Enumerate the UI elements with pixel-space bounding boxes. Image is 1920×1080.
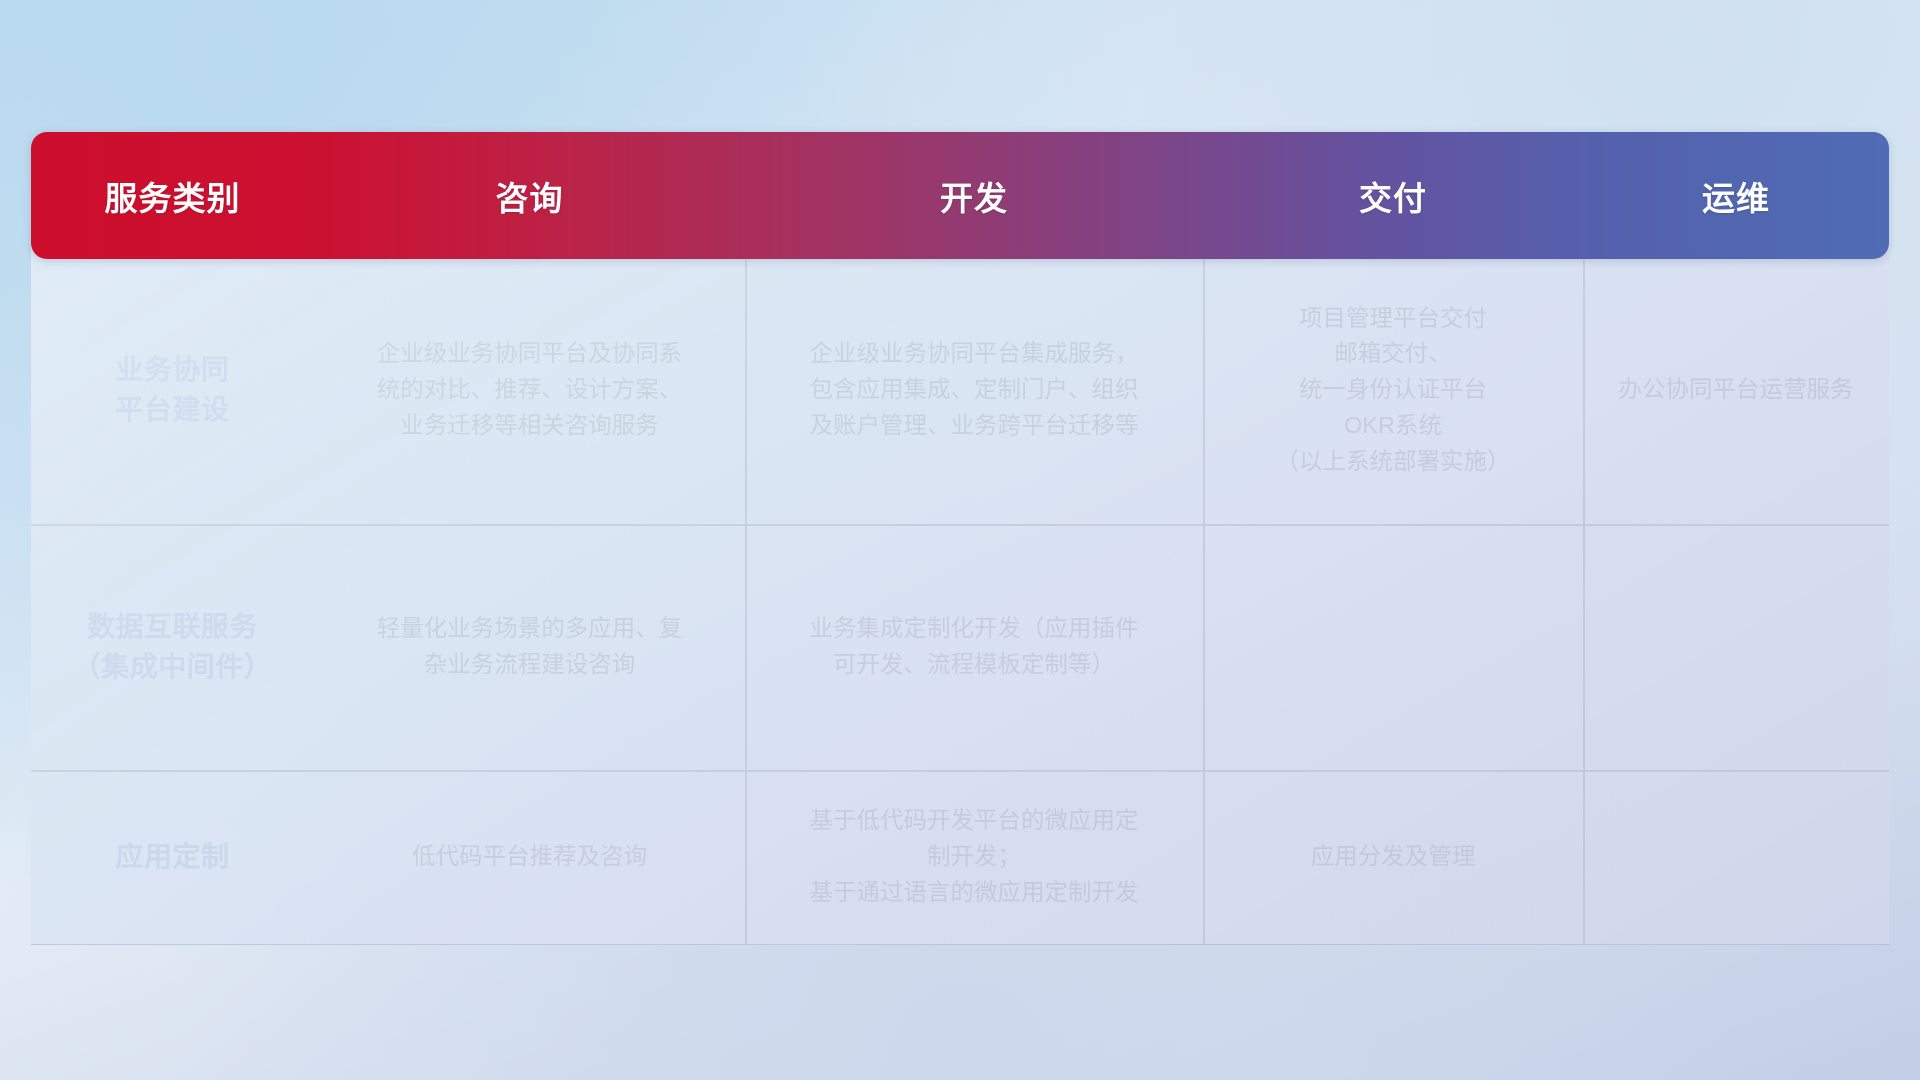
column-header-category: 服务类别 [31, 172, 314, 220]
table-header-row: 服务类别 咨询 开发 交付 运维 [31, 132, 1889, 259]
service-matrix-table: 服务类别 咨询 开发 交付 运维 业务协同 平台建设 企业级业务协同平台及协同系… [31, 132, 1889, 944]
table-body-panel [31, 247, 1889, 945]
column-header-operations: 运维 [1583, 172, 1889, 220]
slide-canvas: 服务类别 咨询 开发 交付 运维 业务协同 平台建设 企业级业务协同平台及协同系… [0, 0, 1920, 1080]
column-header-development: 开发 [745, 172, 1203, 220]
column-header-delivery: 交付 [1203, 172, 1583, 220]
column-header-consulting: 咨询 [314, 172, 745, 220]
